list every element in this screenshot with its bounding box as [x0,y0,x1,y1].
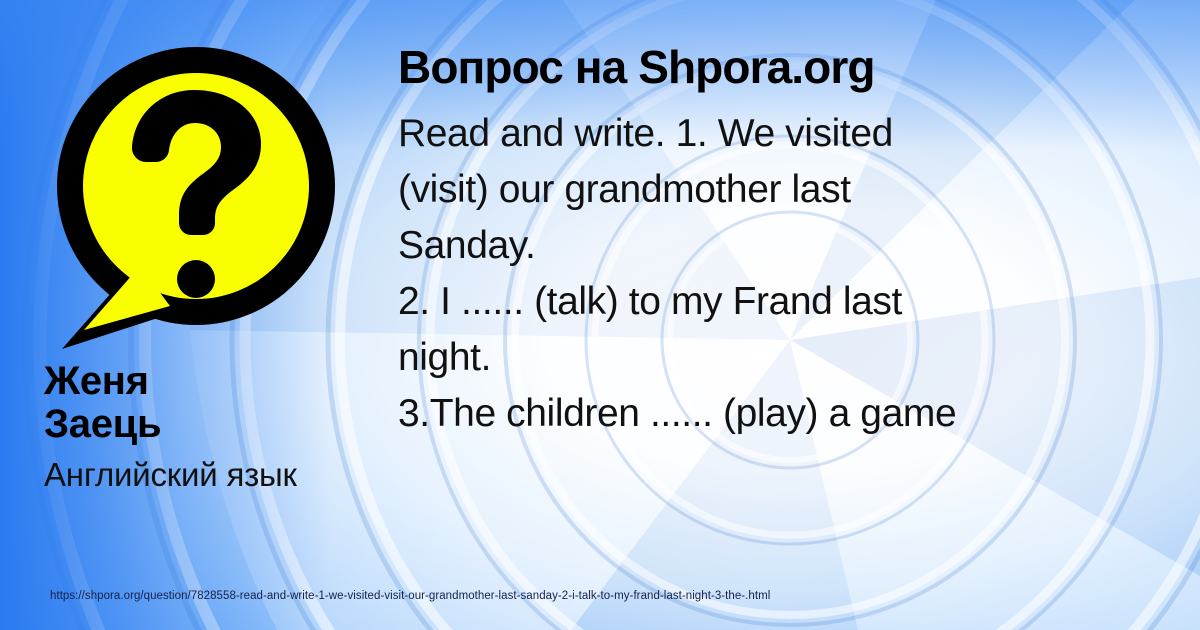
question-line: Read and write. 1. We visited [398,107,1188,160]
source-url[interactable]: https://shpora.org/question/7828558-read… [50,590,770,602]
question-line: 3.The children ...... (play) a game [398,387,1188,440]
author-column: Женя Заець Английский язык [44,34,374,494]
question-speech-bubble-icon [44,34,344,354]
question-line: night. [398,331,1188,384]
question-column: Вопрос на Shpora.org Read and write. 1. … [398,42,1188,440]
question-line: 2. I ...... (talk) to my Frand last [398,275,1188,328]
page-title: Вопрос на Shpora.org [398,42,1188,93]
question-line: (visit) our grandmother last [398,163,1188,216]
author-name-last: Заець [44,403,344,446]
question-text: Read and write. 1. We visited (visit) ou… [398,107,1188,440]
subject-label: Английский язык [44,456,374,494]
question-line: Sanday. [398,219,1188,272]
shpora-question-share-card: Женя Заець Английский язык Вопрос на Shp… [0,0,1200,630]
author-name: Женя Заець [44,360,344,446]
author-name-first: Женя [44,360,344,403]
